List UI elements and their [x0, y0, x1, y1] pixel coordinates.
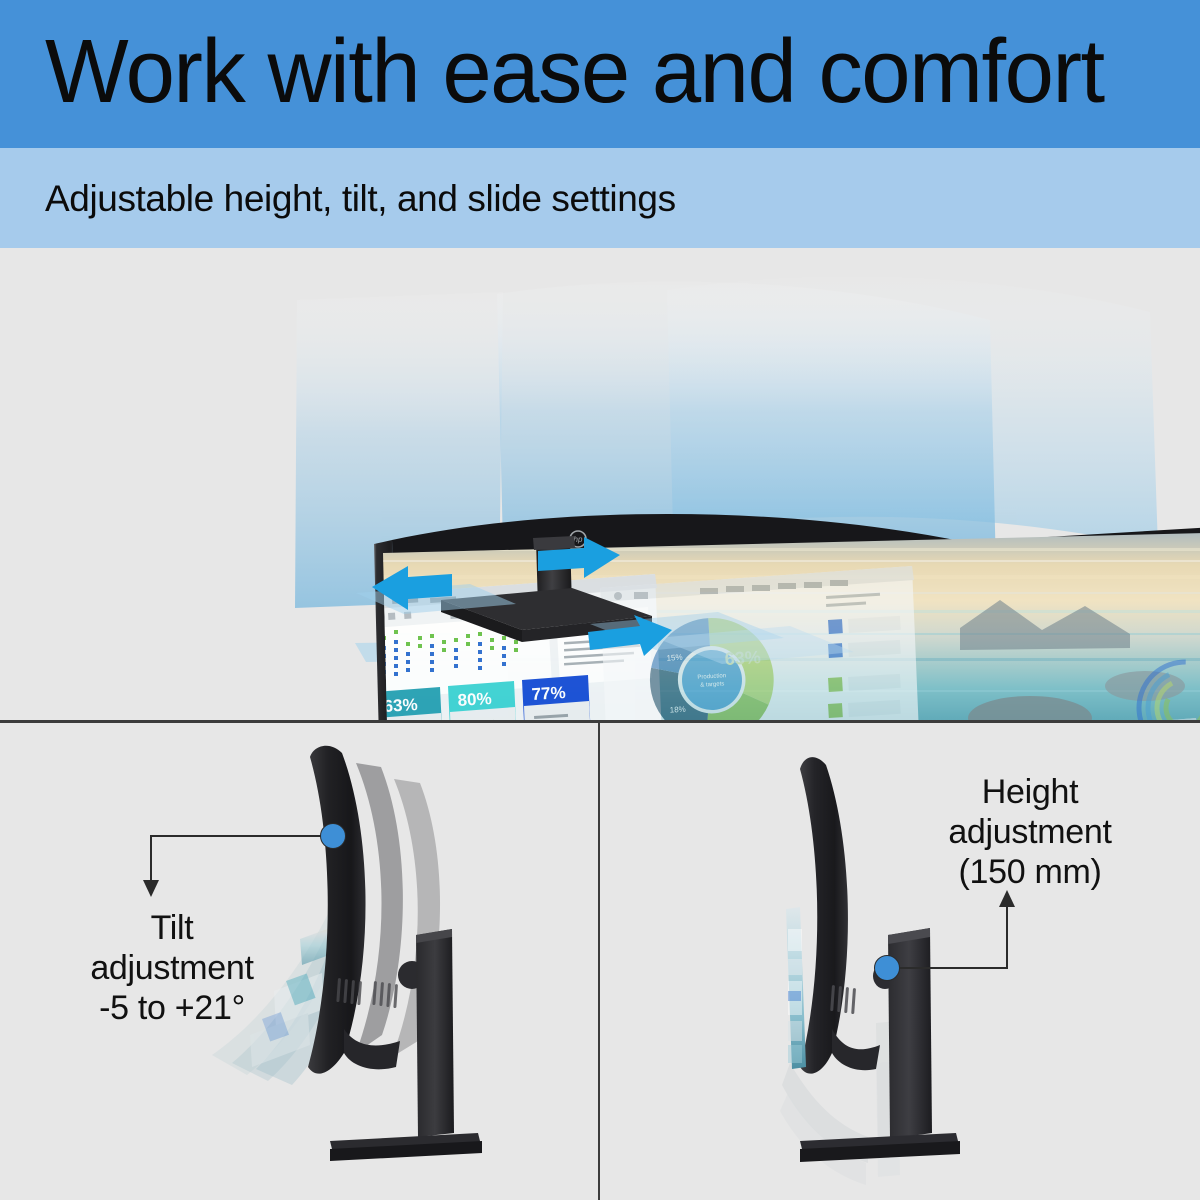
infographic-page: Work with ease and comfort Adjustable he… [0, 0, 1200, 1200]
page-title: Work with ease and comfort [45, 20, 1104, 124]
tilt-callout-dot[interactable] [320, 823, 346, 849]
svg-text:hp: hp [574, 535, 583, 544]
hero-monitor-artwork: 63% [0, 248, 1200, 720]
subtitle-band: Adjustable height, tilt, and slide setti… [0, 148, 1200, 248]
kpi-card-77: 77% [522, 675, 592, 720]
svg-text:77%: 77% [531, 683, 566, 704]
svg-text:80%: 80% [457, 689, 492, 710]
tilt-panel: Tilt adjustment -5 to +21° [0, 723, 598, 1200]
page-subtitle: Adjustable height, tilt, and slide setti… [45, 176, 676, 222]
svg-text:63%: 63% [383, 695, 418, 716]
height-callout-dot[interactable] [874, 955, 900, 981]
tilt-callout-label: Tilt adjustment -5 to +21° [22, 908, 322, 1028]
height-panel: Height adjustment (150 mm) [600, 723, 1200, 1200]
hero-illustration-panel: 63% [0, 248, 1200, 720]
title-band: Work with ease and comfort [0, 0, 1200, 148]
kpi-card-80: 80% [448, 681, 518, 720]
svg-text:18%: 18% [669, 705, 686, 715]
svg-text:15%: 15% [666, 653, 683, 663]
height-callout-label: Height adjustment (150 mm) [900, 772, 1160, 892]
